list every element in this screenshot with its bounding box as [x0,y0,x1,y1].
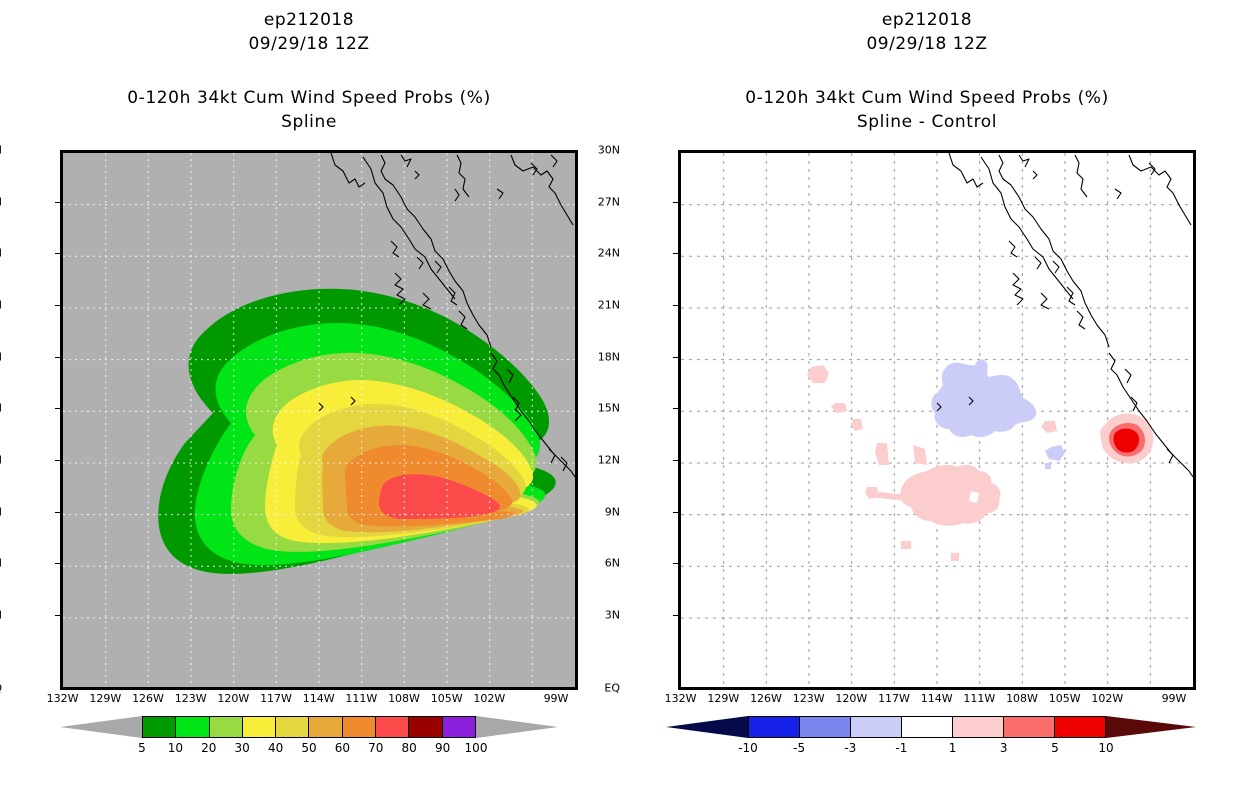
x-tick-label: 102W [473,692,505,705]
anomaly-positive-small [807,365,829,383]
y-tick-label: 6N [605,557,620,570]
x-tick-label: 111W [345,692,377,705]
map-plot-right [678,150,1196,690]
x-tick-label: 132W [665,692,697,705]
colorbar-tick: 10 [168,741,183,755]
anomaly-colorbar: -10 -5 -3 -1 1 3 5 10 [666,716,1196,740]
x-tick-label: 114W [303,692,335,705]
y-tick-label: 18N [0,350,2,363]
x-tick-label: 129W [89,692,121,705]
panel-spline-minus-control: ep212018 09/29/18 12Z 0-120h 34kt Cum Wi… [618,0,1236,800]
x-tick-label: 105W [1049,692,1081,705]
colorbar-tick: 90 [435,741,450,755]
x-tick-label: 123W [175,692,207,705]
x-tick-label: 126W [750,692,782,705]
y-tick-label: 9N [0,505,2,518]
colorbar-under-arrow [666,716,748,738]
panel-spline: ep212018 09/29/18 12Z 0-120h 34kt Cum Wi… [0,0,618,800]
x-tick-label: 117W [878,692,910,705]
map-plot-left [60,150,578,690]
probability-colorbar: 5 10 20 30 40 50 60 70 80 90 100 [60,716,558,740]
x-tick-label: 117W [260,692,292,705]
colorbar-tick: 50 [301,741,316,755]
y-tick-label: 30N [598,144,620,157]
x-tick-label: 108W [1006,692,1038,705]
x-tick-label: 99W [544,692,569,705]
x-tick-label: 99W [1162,692,1187,705]
colorbar-cells [142,716,476,738]
colorbar-over-arrow [476,716,558,738]
colorbar-tick: 3 [1000,741,1008,755]
x-tick-label: 102W [1091,692,1123,705]
colorbar-tick: 20 [201,741,216,755]
colorbar-tick: -5 [793,741,805,755]
y-tick-label: 30N [0,144,2,157]
colorbar-tick-labels: 5 10 20 30 40 50 60 70 80 90 100 [60,741,558,759]
y-tick-label: 15N [598,402,620,415]
x-tick-label: 120W [835,692,867,705]
panel-title-right: 0-120h 34kt Cum Wind Speed Probs (%) [618,88,1236,108]
x-tick-label: 108W [388,692,420,705]
valid-time-right: 09/29/18 12Z [618,34,1236,54]
y-tick-label: 12N [598,454,620,467]
colorbar-over-arrow [1106,716,1196,738]
colorbar-tick: 100 [465,741,488,755]
colorbar-tick-labels: -10 -5 -3 -1 1 3 5 10 [666,741,1196,759]
colorbar-tick: -10 [738,741,758,755]
colorbar-tick: 40 [268,741,283,755]
x-tick-label: 126W [132,692,164,705]
probability-contour-plot [63,153,575,687]
x-tick-label: 132W [47,692,79,705]
panel-title-left: 0-120h 34kt Cum Wind Speed Probs (%) [0,88,618,108]
wind-speed-probability-figure: ep212018 09/29/18 12Z 0-120h 34kt Cum Wi… [0,0,1236,800]
colorbar-tick: -3 [844,741,856,755]
x-tick-label: 114W [921,692,953,705]
colorbar-tick: 5 [138,741,146,755]
colorbar-tick: 1 [949,741,957,755]
y-tick-label: EQ [604,682,620,695]
y-tick-label: 24N [598,247,620,260]
y-tick-label: 18N [598,350,620,363]
panel-subtitle-left: Spline [0,112,618,132]
colorbar-cells [748,716,1106,738]
y-tick-label: 21N [0,299,2,312]
x-tick-label: 111W [963,692,995,705]
colorbar-under-arrow [60,716,142,738]
y-tick-label: 9N [605,505,620,518]
anomaly-contour-plot [681,153,1193,687]
colorbar-tick: 70 [368,741,383,755]
x-tick-label: 129W [707,692,739,705]
y-tick-label: 3N [0,609,2,622]
y-tick-label: 27N [0,195,2,208]
y-tick-label: 6N [0,557,2,570]
y-tick-label: 12N [0,454,2,467]
storm-id-left: ep212018 [0,10,618,30]
x-tick-label: 123W [793,692,825,705]
colorbar-tick: -1 [895,741,907,755]
colorbar-tick: 80 [402,741,417,755]
anomaly-positive-main [900,465,1000,526]
x-tick-label: 105W [431,692,463,705]
y-tick-label: EQ [0,682,2,695]
x-tick-label: 120W [217,692,249,705]
y-tick-label: 21N [598,299,620,312]
colorbar-tick: 30 [235,741,250,755]
anomaly-negative-main [931,359,1036,437]
y-tick-label: 24N [0,247,2,260]
y-tick-label: 3N [605,609,620,622]
colorbar-tick: 10 [1098,741,1113,755]
y-tick-label: 15N [0,402,2,415]
y-tick-label: 27N [598,195,620,208]
storm-id-right: ep212018 [618,10,1236,30]
panel-subtitle-right: Spline - Control [618,112,1236,132]
colorbar-tick: 60 [335,741,350,755]
colorbar-tick: 5 [1051,741,1059,755]
valid-time-left: 09/29/18 12Z [0,34,618,54]
